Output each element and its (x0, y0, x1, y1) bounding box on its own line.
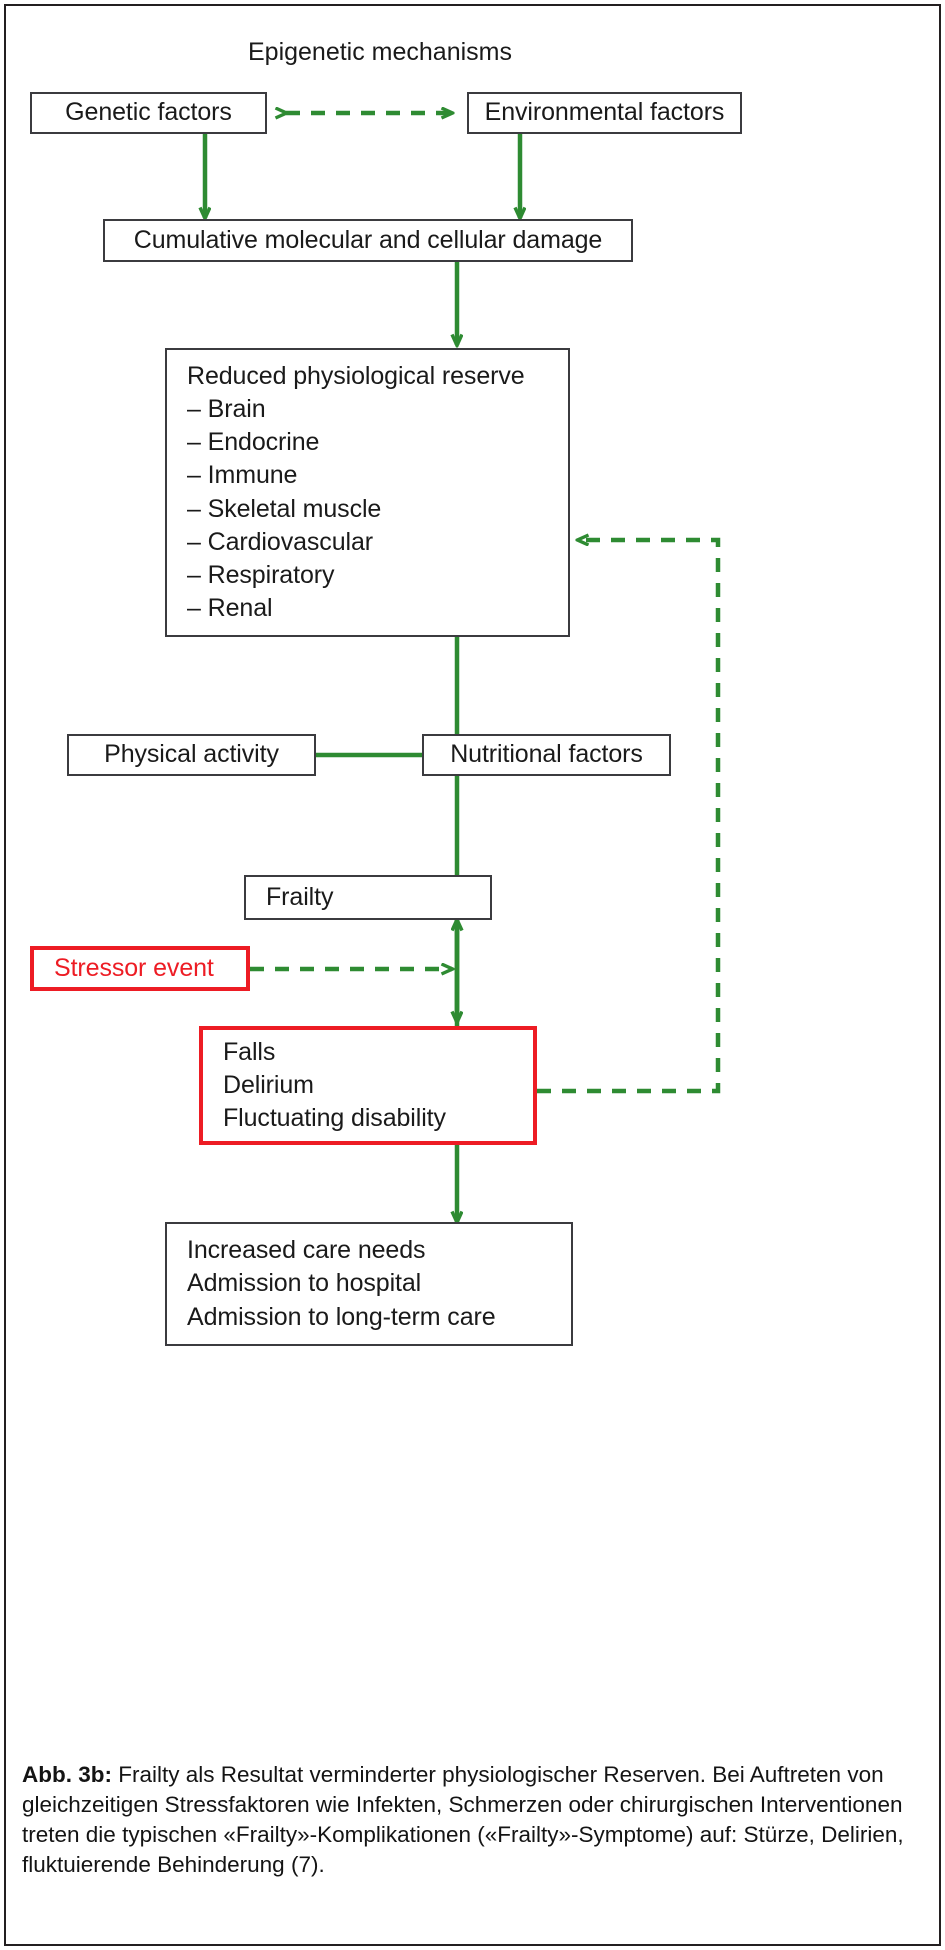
node-nutritional-factors[interactable]: Nutritional factors (422, 734, 671, 776)
node-outcomes-label: Increased care needs Admission to hospit… (167, 1234, 496, 1334)
node-reduced-reserve-label: Reduced physiological reserve – Brain – … (167, 360, 525, 626)
node-complications[interactable]: Falls Delirium Fluctuating disability (199, 1026, 537, 1145)
figure-page: Epigenetic mechanisms Genetic factors En… (0, 0, 945, 1950)
node-environmental-factors-label: Environmental factors (469, 96, 740, 129)
node-genetic-factors[interactable]: Genetic factors (30, 92, 267, 134)
diagram-title: Epigenetic mechanisms (0, 38, 760, 67)
node-frailty[interactable]: Frailty (244, 875, 492, 920)
node-nutritional-factors-label: Nutritional factors (424, 738, 669, 771)
node-cumulative-damage[interactable]: Cumulative molecular and cellular damage (103, 219, 633, 262)
node-physical-activity[interactable]: Physical activity (67, 734, 316, 776)
node-physical-activity-label: Physical activity (69, 738, 314, 771)
figure-caption: Abb. 3b: Frailty als Resultat vermindert… (22, 1760, 922, 1880)
flowchart-diagram: Epigenetic mechanisms Genetic factors En… (0, 0, 945, 1680)
figure-caption-text: Frailty als Resultat verminderter physio… (22, 1762, 904, 1877)
node-frailty-label: Frailty (246, 881, 333, 914)
node-genetic-factors-label: Genetic factors (32, 96, 265, 129)
node-outcomes[interactable]: Increased care needs Admission to hospit… (165, 1222, 573, 1346)
node-environmental-factors[interactable]: Environmental factors (467, 92, 742, 134)
node-cumulative-damage-label: Cumulative molecular and cellular damage (105, 224, 631, 257)
node-reduced-reserve[interactable]: Reduced physiological reserve – Brain – … (165, 348, 570, 637)
node-stressor-event-label: Stressor event (34, 952, 214, 985)
figure-caption-label: Abb. 3b: (22, 1762, 112, 1787)
node-stressor-event[interactable]: Stressor event (30, 946, 250, 991)
node-complications-label: Falls Delirium Fluctuating disability (203, 1036, 446, 1136)
